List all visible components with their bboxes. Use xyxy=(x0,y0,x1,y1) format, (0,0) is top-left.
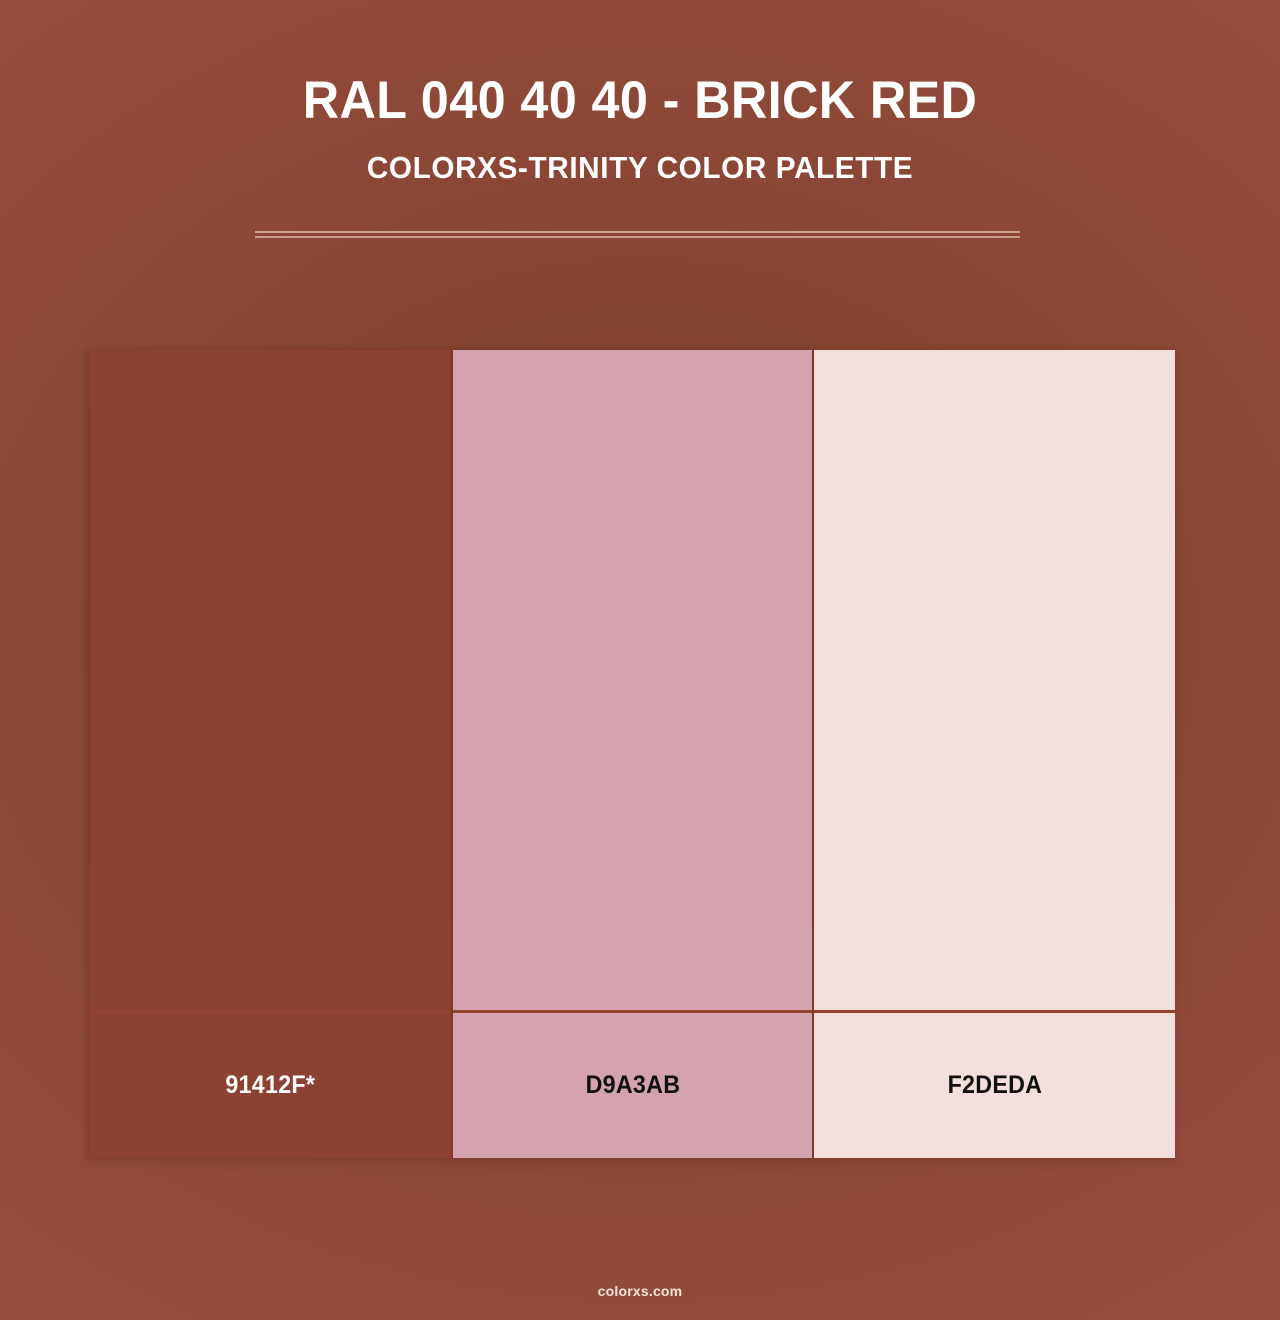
color-swatch[interactable] xyxy=(453,350,813,1010)
color-label-bar: F2DEDA xyxy=(814,1010,1175,1158)
header: RAL 040 40 40 - BRICK RED COLORXS-TRINIT… xyxy=(0,0,1280,186)
title-divider xyxy=(255,231,1020,237)
divider-line-bottom xyxy=(255,236,1020,238)
palette-column[interactable]: 91412F* xyxy=(90,350,451,1158)
color-hex-label: F2DEDA xyxy=(947,1071,1042,1100)
palette-column[interactable]: D9A3AB xyxy=(451,350,813,1158)
palette-column[interactable]: F2DEDA xyxy=(812,350,1175,1158)
color-swatch[interactable] xyxy=(90,350,451,1010)
site-footer: colorxs.com xyxy=(0,1283,1280,1299)
palette-page: RAL 040 40 40 - BRICK RED COLORXS-TRINIT… xyxy=(0,0,1280,1320)
page-subtitle: COLORXS-TRINITY COLOR PALETTE xyxy=(26,132,1255,186)
color-hex-label: 91412F* xyxy=(225,1071,315,1100)
page-title: RAL 040 40 40 - BRICK RED xyxy=(32,0,1248,132)
color-swatch[interactable] xyxy=(814,350,1175,1010)
color-hex-label: D9A3AB xyxy=(585,1071,680,1100)
color-palette: 91412F* D9A3AB F2DEDA xyxy=(90,350,1175,1158)
divider-line-top xyxy=(255,231,1020,233)
color-label-bar: 91412F* xyxy=(90,1010,451,1158)
color-label-bar: D9A3AB xyxy=(453,1010,813,1158)
